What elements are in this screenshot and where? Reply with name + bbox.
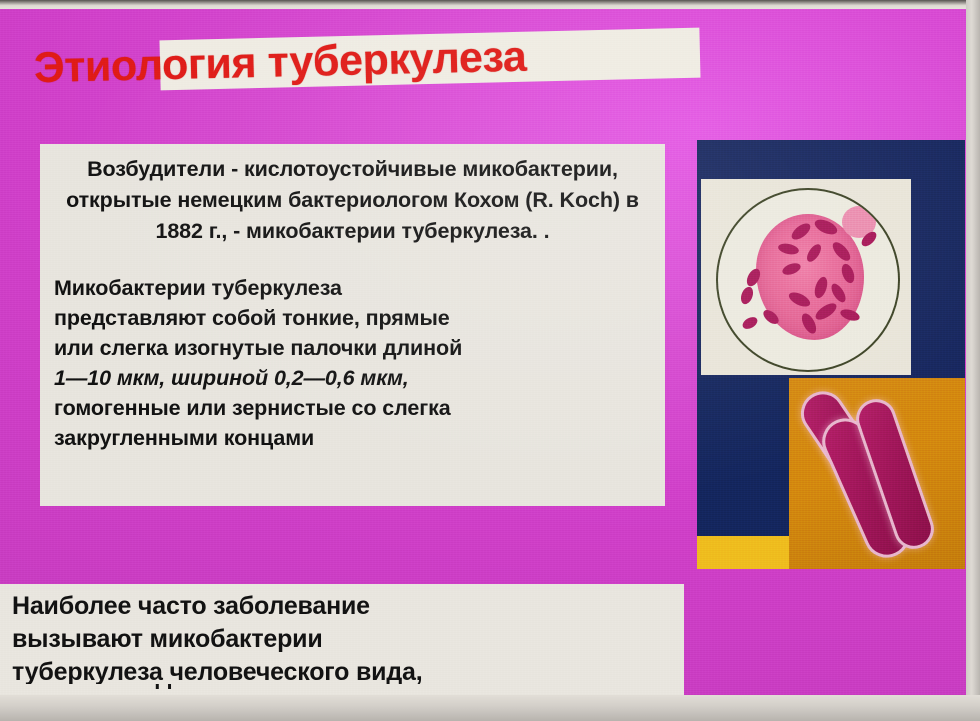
slide-photograph: Этиология туберкулеза Возбудители - кисл… (0, 0, 980, 721)
lead-paragraph: Возбудители - кислотоустойчивые микобакт… (54, 154, 651, 247)
projected-slide: Этиология туберкулеза Возбудители - кисл… (0, 6, 968, 696)
bacillus (739, 285, 755, 306)
main-text-panel: Возбудители - кислотоустойчивые микобакт… (40, 144, 665, 506)
page-title: Этиология туберкулеза (33, 24, 734, 96)
microscopy-field (716, 188, 900, 372)
body-line-2: представляют собой тонкие, прямые (54, 306, 450, 330)
bacillus (741, 315, 760, 332)
bottom-paragraph: Наиболее часто заболевание вызывают мико… (12, 590, 674, 684)
bottom-line-2: вызывают микобактерии (12, 625, 323, 653)
photo-edge-right (966, 0, 980, 721)
navy-accent-block (697, 378, 789, 536)
electron-micrograph-figure (789, 378, 965, 569)
photo-edge-top (0, 0, 980, 9)
body-line-5: гомогенные или зернистые со слегка (54, 396, 451, 420)
bottom-clipped-text: бычьего вида и (12, 684, 208, 691)
body-line-1: Микобактерии туберкулеза (54, 276, 342, 300)
body-paragraph: Микобактерии туберкулеза представляют со… (54, 273, 651, 453)
photo-edge-bottom (0, 695, 980, 721)
microscopy-figure (701, 179, 911, 375)
bottom-line-3: туберкулеза человеческого вида, (12, 658, 422, 684)
body-line-4: 1—10 мкм, шириной 0,2—0,6 мкм, (54, 366, 409, 390)
bottom-line-1: Наиболее часто заболевание (12, 592, 370, 620)
body-line-6: закругленными концами (54, 426, 314, 450)
bottom-text-panel: Наиболее часто заболевание вызывают мико… (0, 584, 684, 684)
figure-group (697, 140, 965, 569)
body-line-3: или слегка изогнутые палочки длиной (54, 336, 462, 360)
